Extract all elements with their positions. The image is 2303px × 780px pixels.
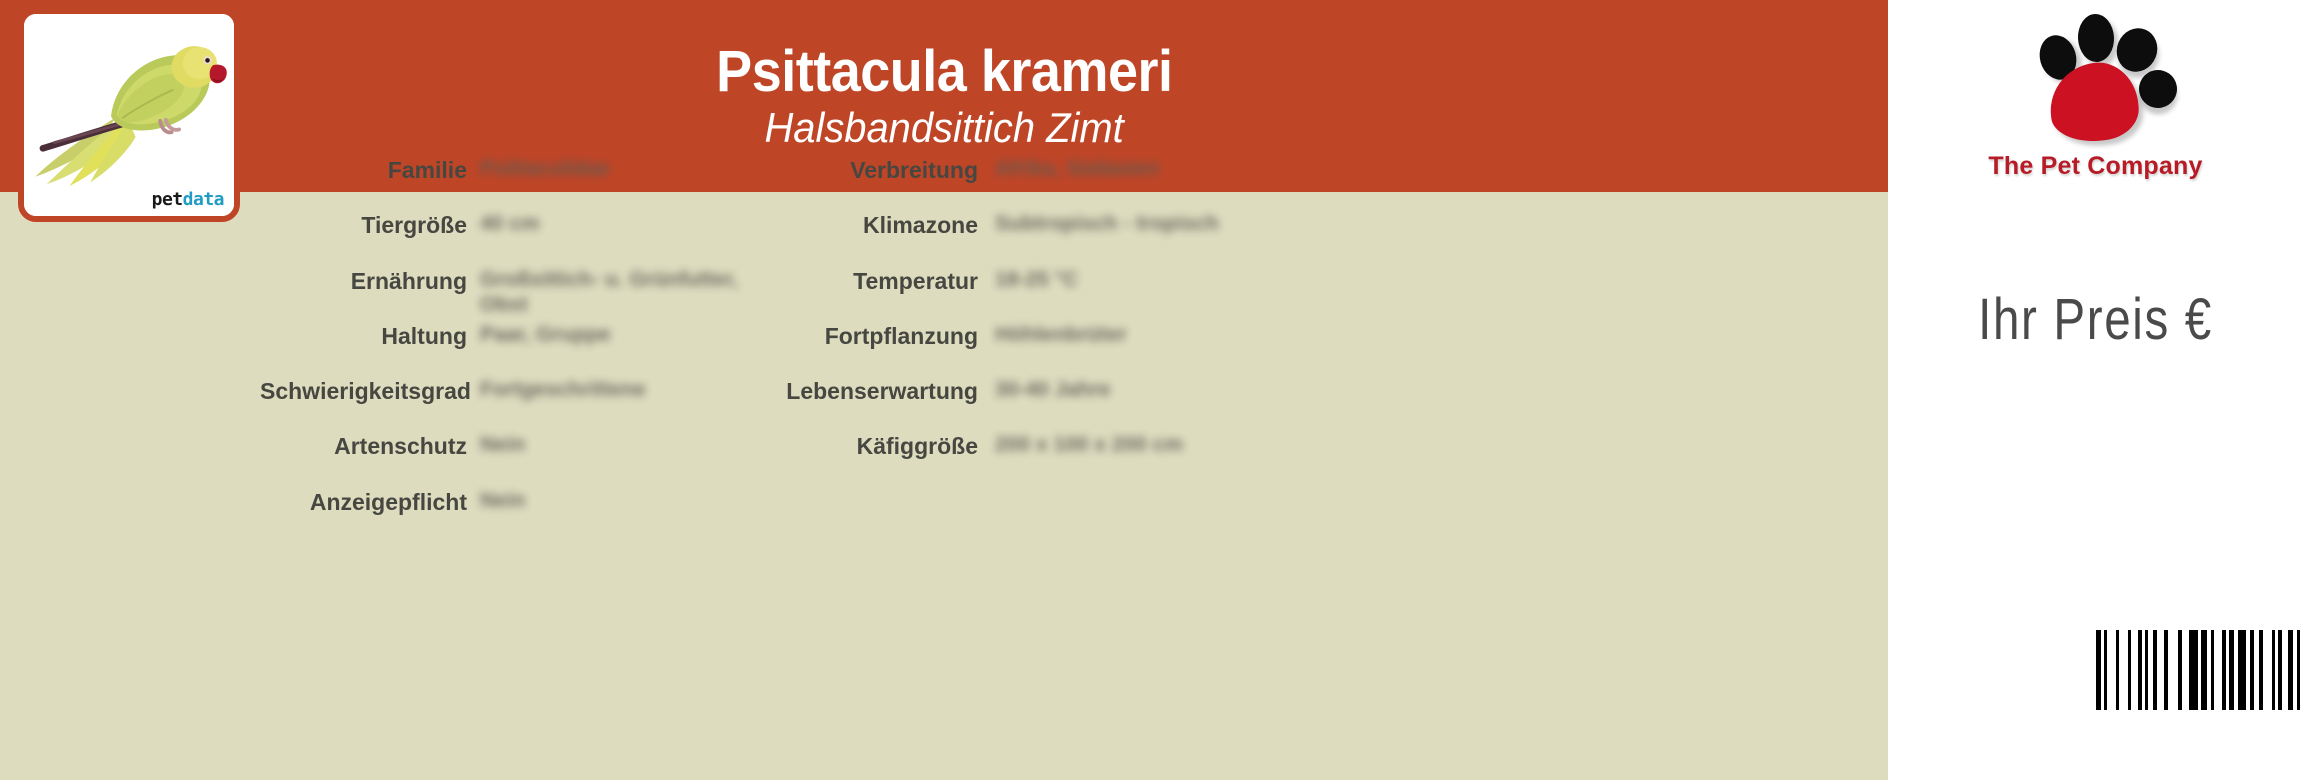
attribute-label-verbreitung: Verbreitung [775, 156, 978, 184]
attribute-row: Haltung Paar, Gruppe [260, 322, 780, 377]
attribute-row: Klimazone Subtropisch - tropisch [775, 211, 1295, 266]
attribute-label-ernaehrung: Ernährung [260, 267, 467, 295]
parakeet-photo [24, 14, 234, 216]
attribute-label-haltung: Haltung [260, 322, 467, 350]
attribute-value-klimazone: Subtropisch - tropisch [995, 211, 1295, 237]
attribute-value-anzeigepflicht: Nein [480, 488, 780, 514]
attribute-value-haltung: Paar, Gruppe [480, 322, 780, 348]
attribute-value-temperatur: 18-25 °C [995, 267, 1295, 293]
attribute-label-anzeigepflicht: Anzeigepflicht [260, 488, 467, 516]
attribute-label-kaefiggroesse: Käfiggröße [775, 432, 978, 460]
attribute-label-tiergroesse: Tiergröße [260, 211, 467, 239]
attribute-value-fortpflanzung: Höhlenbrüter [995, 322, 1295, 348]
attribute-row: Anzeigepflicht Nein [260, 488, 780, 543]
attribute-label-familie: Familie [260, 156, 467, 184]
attribute-value-verbreitung: Afrika, Südasien [995, 156, 1295, 182]
attribute-row: Lebenserwartung 30-40 Jahre [775, 377, 1295, 432]
common-name: Halsbandsittich Zimt [764, 106, 1123, 150]
attribute-row: Käfiggröße 200 x 100 x 200 cm [775, 432, 1295, 487]
attribute-row: Familie Psittaculidae [260, 156, 780, 211]
attribute-label-temperatur: Temperatur [775, 267, 978, 295]
info-card: Psittacula krameri Halsbandsittich Zimt [0, 0, 1888, 780]
attribute-label-schwierigkeitsgrad: Schwierigkeitsgrad [260, 377, 467, 405]
attribute-row: Tiergröße 40 cm [260, 211, 780, 266]
price-label: Ihr Preis € [1925, 286, 2265, 353]
animal-photo-frame: petdata [18, 8, 240, 222]
attribute-row: Ernährung Großsittich- u. Grünfutter, Ob… [260, 267, 780, 322]
attribute-value-familie: Psittaculidae [480, 156, 780, 182]
attribute-value-schwierigkeitsgrad: Fortgeschrittene [480, 377, 780, 403]
attribute-row: Verbreitung Afrika, Südasien [775, 156, 1295, 211]
attribute-label-artenschutz: Artenschutz [260, 432, 467, 460]
attribute-row: Fortpflanzung Höhlenbrüter [775, 322, 1295, 377]
price-panel: The Pet Company Ihr Preis € [1888, 0, 2303, 780]
attribute-value-artenschutz: Nein [480, 432, 780, 458]
attribute-column-right: Verbreitung Afrika, Südasien Klimazone S… [775, 192, 1295, 488]
paw-print-icon [2036, 8, 2176, 140]
attribute-column-left: Familie Psittaculidae Tiergröße 40 cm Er… [260, 192, 780, 543]
brand-logo: The Pet Company [1888, 4, 2303, 204]
barcode [2096, 630, 2303, 710]
attribute-value-lebenserwartung: 30-40 Jahre [995, 377, 1295, 403]
attribute-row: Temperatur 18-25 °C [775, 267, 1295, 322]
brand-name: The Pet Company [1888, 152, 2303, 181]
scientific-name: Psittacula krameri [716, 42, 1172, 101]
attribute-value-ernaehrung: Großsittich- u. Grünfutter, Obst [480, 267, 780, 317]
attribute-label-fortpflanzung: Fortpflanzung [775, 322, 978, 350]
attribute-label-lebenserwartung: Lebenserwartung [775, 377, 978, 405]
attribute-value-kaefiggroesse: 200 x 100 x 200 cm [995, 432, 1295, 458]
attribute-row: Schwierigkeitsgrad Fortgeschrittene [260, 377, 780, 432]
attribute-row: Artenschutz Nein [260, 432, 780, 487]
pet-info-label: Psittacula krameri Halsbandsittich Zimt [0, 0, 2303, 780]
attribute-label-klimazone: Klimazone [775, 211, 978, 239]
paw-toe-icon [2077, 13, 2115, 63]
attribute-table: Familie Psittaculidae Tiergröße 40 cm Er… [0, 192, 1888, 780]
attribute-value-tiergroesse: 40 cm [480, 211, 780, 237]
